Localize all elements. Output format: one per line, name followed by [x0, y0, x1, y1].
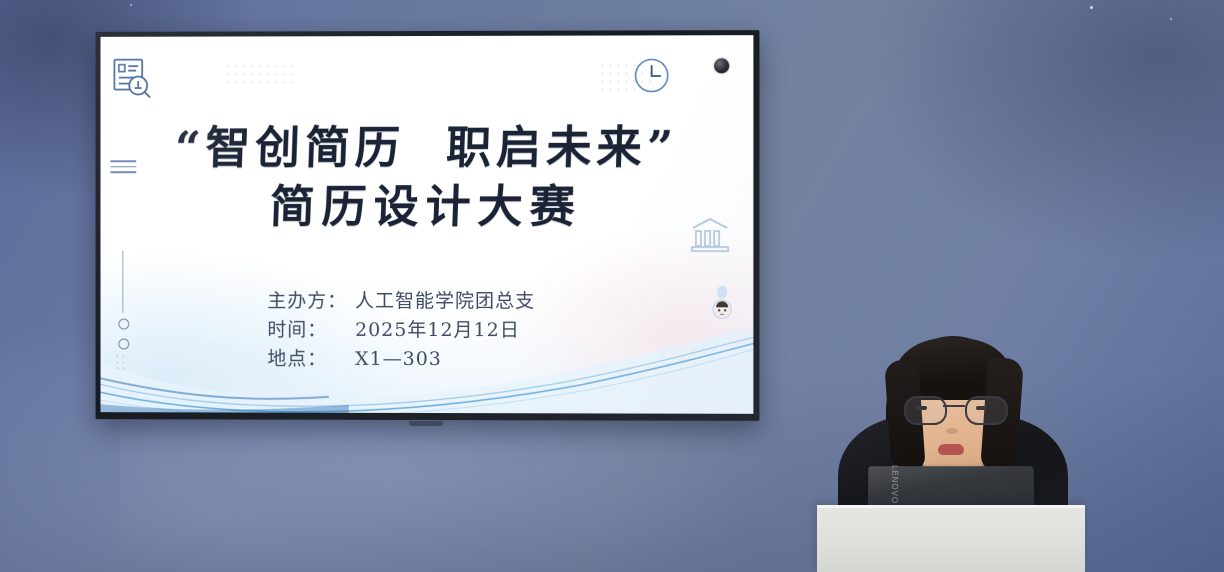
podium: [817, 505, 1085, 572]
lens: [904, 396, 947, 425]
dot-grid-decoration: [224, 62, 296, 88]
slide-title-line-2: 简历设计大赛: [101, 177, 754, 237]
wall-display[interactable]: “智创简历 职启未来” 简历设计大赛 主办方： 人工智能学院团总支 时间： 20…: [96, 30, 760, 421]
mouth: [938, 444, 964, 455]
display-screen[interactable]: “智创简历 职启未来” 简历设计大赛 主办方： 人工智能学院团总支 时间： 20…: [101, 35, 754, 414]
wall-speck: [1090, 6, 1093, 9]
laptop-brand-label: LENOVO: [890, 465, 899, 504]
lens: [965, 396, 1008, 425]
slide-title: “智创简历 职启未来” 简历设计大赛: [101, 118, 754, 237]
glasses-bridge: [943, 405, 965, 407]
camera-lens-icon: [714, 58, 729, 73]
display-mount: [409, 421, 443, 426]
wave-decoration: [101, 293, 754, 414]
wall-shadow-top-right: [864, 0, 1224, 260]
podium-top-edge: [817, 505, 1085, 508]
photo-scene: “智创简历 职启未来” 简历设计大赛 主办方： 人工智能学院团总支 时间： 20…: [0, 0, 1224, 572]
clock-icon: [633, 56, 671, 99]
slide-title-line-1: “智创简历 职启未来”: [101, 118, 754, 178]
wall-speck: [1170, 18, 1172, 20]
presentation-slide: “智创简历 职启未来” 简历设计大赛 主办方： 人工智能学院团总支 时间： 20…: [101, 35, 754, 414]
wall-speck: [130, 4, 132, 6]
document-search-icon: [110, 57, 156, 108]
nose: [946, 428, 958, 434]
glasses: [902, 396, 1006, 422]
